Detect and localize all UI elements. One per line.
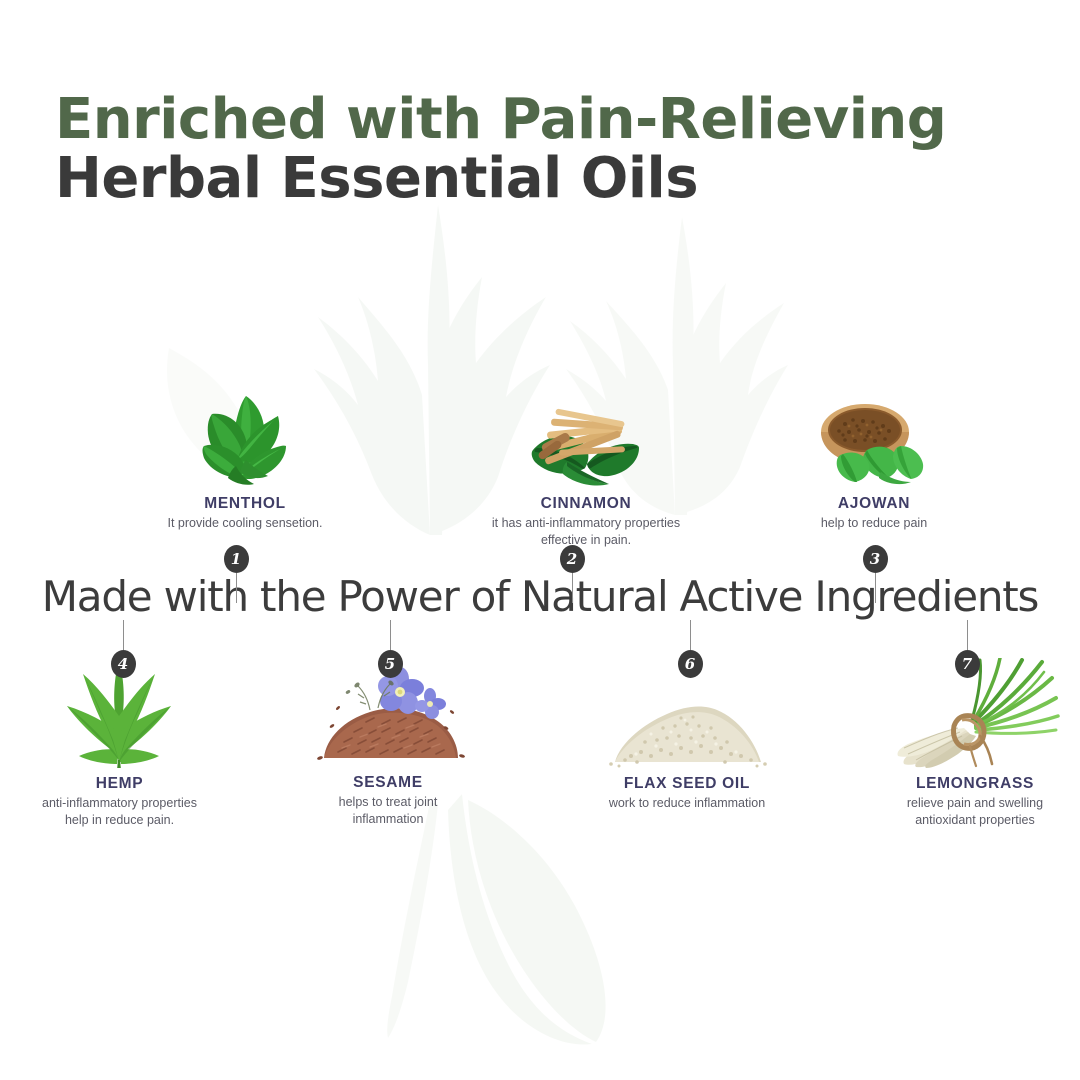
ingredient-name: HEMP bbox=[17, 774, 222, 793]
marker-6[interactable]: 6 bbox=[675, 620, 705, 678]
ingredient-name: LEMONGRASS bbox=[875, 774, 1075, 793]
ingredient-card-hemp[interactable]: HEMP anti-inflammatory properties help i… bbox=[17, 658, 222, 828]
ingredient-name: CINNAMON bbox=[468, 494, 704, 513]
marker-1[interactable]: 1 bbox=[221, 545, 251, 603]
title-line-2: Herbal Essential Oils bbox=[55, 149, 946, 208]
ingredient-desc: it has anti-inflammatory properties effe… bbox=[468, 515, 704, 548]
marker-7[interactable]: 7 bbox=[952, 620, 982, 678]
marker-4[interactable]: 4 bbox=[108, 620, 138, 678]
banner-text: Made with the Power of Natural Active In… bbox=[0, 572, 1080, 621]
marker-stem bbox=[967, 620, 968, 650]
ingredient-name: FLAX SEED OIL bbox=[578, 774, 796, 793]
marker-3[interactable]: 3 bbox=[860, 545, 890, 603]
marker-stem bbox=[390, 620, 391, 650]
banner: Made with the Power of Natural Active In… bbox=[0, 572, 1080, 621]
marker-stem bbox=[123, 620, 124, 650]
marker-stem bbox=[236, 573, 237, 603]
ingredient-card-menthol[interactable]: MENTHOL It provide cooling sensetion. bbox=[145, 383, 345, 532]
ingredient-name: SESAME bbox=[295, 773, 481, 792]
marker-stem bbox=[572, 573, 573, 603]
ingredient-desc: helps to treat joint inflammation bbox=[295, 794, 481, 827]
title-line-1: Enriched with Pain-Relieving bbox=[55, 90, 946, 149]
marker-number: 3 bbox=[863, 545, 888, 573]
ingredient-card-lemongrass[interactable]: LEMONGRASS relieve pain and swelling ant… bbox=[875, 658, 1075, 828]
marker-5[interactable]: 5 bbox=[375, 620, 405, 678]
ajowan-seed-bowl-icon bbox=[778, 383, 970, 488]
flax-seed-pile-icon bbox=[578, 686, 796, 768]
cinnamon-sticks-icon bbox=[468, 383, 704, 488]
ingredient-card-ajowan[interactable]: AJOWAN help to reduce pain bbox=[778, 383, 970, 532]
ingredient-name: AJOWAN bbox=[778, 494, 970, 513]
marker-number: 6 bbox=[678, 650, 703, 678]
marker-number: 5 bbox=[378, 650, 403, 678]
ingredient-name: MENTHOL bbox=[145, 494, 345, 513]
marker-2[interactable]: 2 bbox=[557, 545, 587, 603]
watermark-leaf-bottom bbox=[416, 788, 631, 1048]
marker-number: 4 bbox=[111, 650, 136, 678]
ingredient-desc: It provide cooling sensetion. bbox=[145, 515, 345, 531]
ingredient-desc: anti-inflammatory properties help in red… bbox=[17, 795, 222, 828]
marker-stem bbox=[875, 573, 876, 603]
page-title: Enriched with Pain-Relieving Herbal Esse… bbox=[55, 90, 946, 209]
marker-number: 7 bbox=[955, 650, 980, 678]
ingredient-card-cinnamon[interactable]: CINNAMON it has anti-inflammatory proper… bbox=[468, 383, 704, 548]
watermark-leaf-stem bbox=[382, 800, 442, 1040]
marker-number: 2 bbox=[560, 545, 585, 573]
ingredient-card-flax-seed-oil[interactable]: FLAX SEED OIL work to reduce inflammatio… bbox=[578, 686, 796, 812]
ingredient-card-sesame[interactable]: SESAME helps to treat joint inflammation bbox=[295, 662, 481, 827]
ingredient-desc: help to reduce pain bbox=[778, 515, 970, 531]
marker-number: 1 bbox=[224, 545, 249, 573]
infographic-canvas: Enriched with Pain-Relieving Herbal Esse… bbox=[0, 0, 1080, 1080]
mint-leaves-icon bbox=[145, 383, 345, 488]
ingredient-desc: relieve pain and swelling antioxidant pr… bbox=[875, 795, 1075, 828]
marker-stem bbox=[690, 620, 691, 650]
ingredient-desc: work to reduce inflammation bbox=[578, 795, 796, 811]
